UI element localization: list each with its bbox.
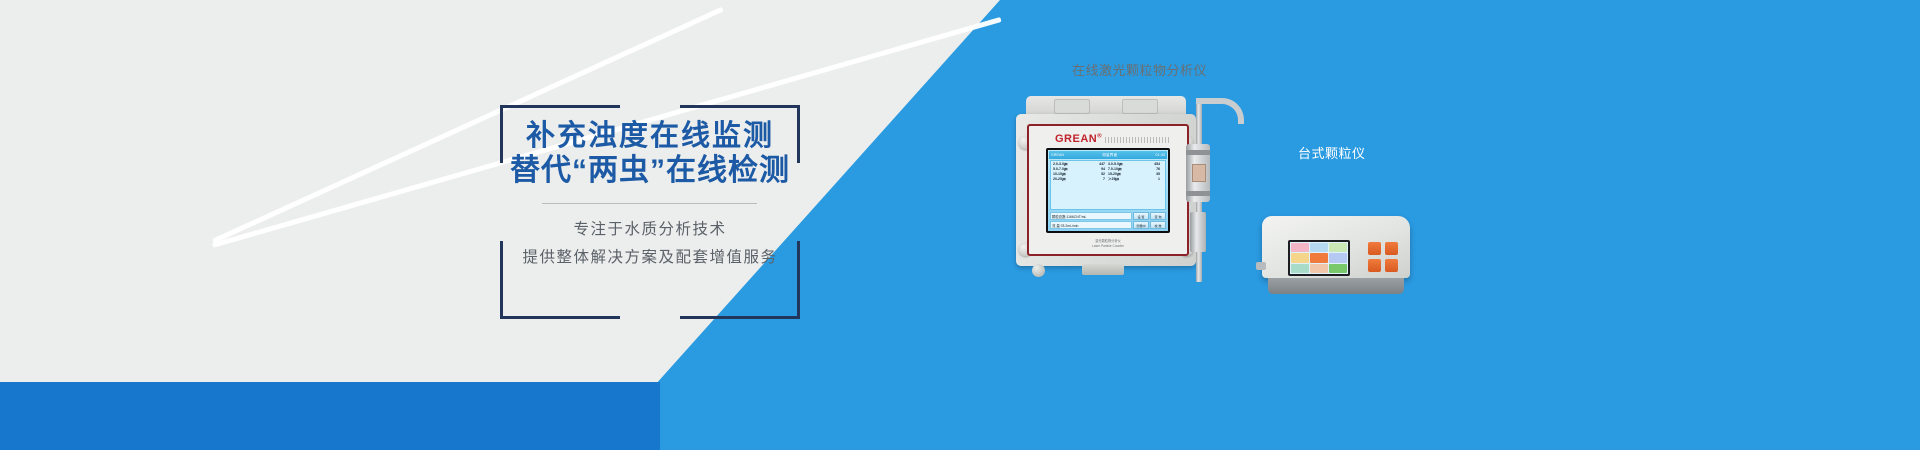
hero-banner: 补充浊度在线监测 替代“两虫”在线检测 专注于水质分析技术 提供整体解决方案及配… [0,0,1920,450]
analyzer-cable-gland-icon [1032,264,1045,277]
bench-key[interactable] [1368,242,1381,255]
settings-button[interactable]: 设 置 [1133,212,1149,220]
analyzer-caption: 激光颗粒物分析仪 Laser Particle Counter [1053,239,1163,249]
subtitle-line-2: 提供整体解决方案及配套增值服务 [495,245,805,267]
count-value: 1 [1158,177,1160,182]
analyzer-enclosure: GREAN® GREAN 测量界面 01:43 2.0-3.0㎛447 3.0-… [1016,114,1196,266]
analyzer-caption-en: Laser Particle Counter [1053,244,1163,249]
particle-count-table: 2.0-3.0㎛447 3.0-5.0㎛454 5.0-7.0㎛94 7.0-1… [1050,160,1166,210]
display-status-bar: GREAN 测量界面 01:43 [1049,151,1167,159]
count-value: 7 [1103,177,1105,182]
size-range-label: ＞25㎛ [1108,177,1119,182]
analyzer-brand-logo: GREAN® [1055,133,1102,145]
benchtop-particle-counter [1262,208,1410,294]
subtitle-line-1: 专注于水质分析技术 [495,217,805,239]
page-title: 补充浊度在线监测 替代“两虫”在线检测 [492,119,808,189]
size-range-label: 20-25㎛ [1053,177,1065,182]
bench-key[interactable] [1368,259,1381,272]
display-clock: 01:43 [1156,153,1166,157]
sensor-lower-fitting [1190,212,1206,252]
bench-key[interactable] [1385,242,1398,255]
flow-rate-value: 流 量:78.2mL/min [1050,221,1132,229]
total-count-value: 颗粒总数:1166CNT/mL [1050,212,1132,220]
bench-key[interactable] [1385,259,1398,272]
online-laser-particle-analyzer: GREAN® GREAN 测量界面 01:43 2.0-3.0㎛447 3.0-… [1016,96,1196,278]
headline-block: 补充浊度在线监测 替代“两虫”在线检测 专注于水质分析技术 提供整体解决方案及配… [500,105,800,319]
title-divider [542,203,757,204]
callout-bench-label: 台式颗粒仪 [1298,143,1366,162]
inline-sensor-module [1186,144,1210,202]
callout-analyzer-label: 在线激光颗粒物分析仪 [1072,60,1207,79]
bench-keypad[interactable] [1368,242,1398,272]
sensor-label-icon [1192,164,1206,182]
measuring-status-badge[interactable]: 测量中 [1133,221,1149,229]
footer-row: 流 量:78.2mL/min 测量中 校 准 [1050,221,1166,229]
table-row: 20-25㎛7 ＞25㎛1 [1053,177,1163,182]
query-button[interactable]: 查 询 [1150,212,1166,220]
bench-display-tiles [1290,242,1348,274]
headline-line-1: 补充浊度在线监测 [492,119,808,153]
calibrate-button[interactable]: 校 准 [1150,221,1166,229]
footer-row: 颗粒总数:1166CNT/mL 设 置 查 询 [1050,212,1166,220]
analyzer-vent-icon [1105,137,1169,143]
bench-enclosure [1262,216,1410,278]
display-footer: 颗粒总数:1166CNT/mL 设 置 查 询 流 量:78.2mL/min 测… [1050,211,1166,229]
bench-base [1268,278,1404,294]
analyzer-cable-port [1082,264,1124,275]
bench-side-fitting [1256,262,1266,270]
analyzer-front-panel: GREAN® GREAN 测量界面 01:43 2.0-3.0㎛447 3.0-… [1027,124,1189,256]
display-brand: GREAN [1051,153,1064,157]
bench-display[interactable] [1288,240,1350,276]
headline-line-2: 替代“两虫”在线检测 [492,153,808,188]
analyzer-display[interactable]: GREAN 测量界面 01:43 2.0-3.0㎛447 3.0-5.0㎛454… [1046,148,1170,233]
display-title: 测量界面 [1102,153,1117,158]
